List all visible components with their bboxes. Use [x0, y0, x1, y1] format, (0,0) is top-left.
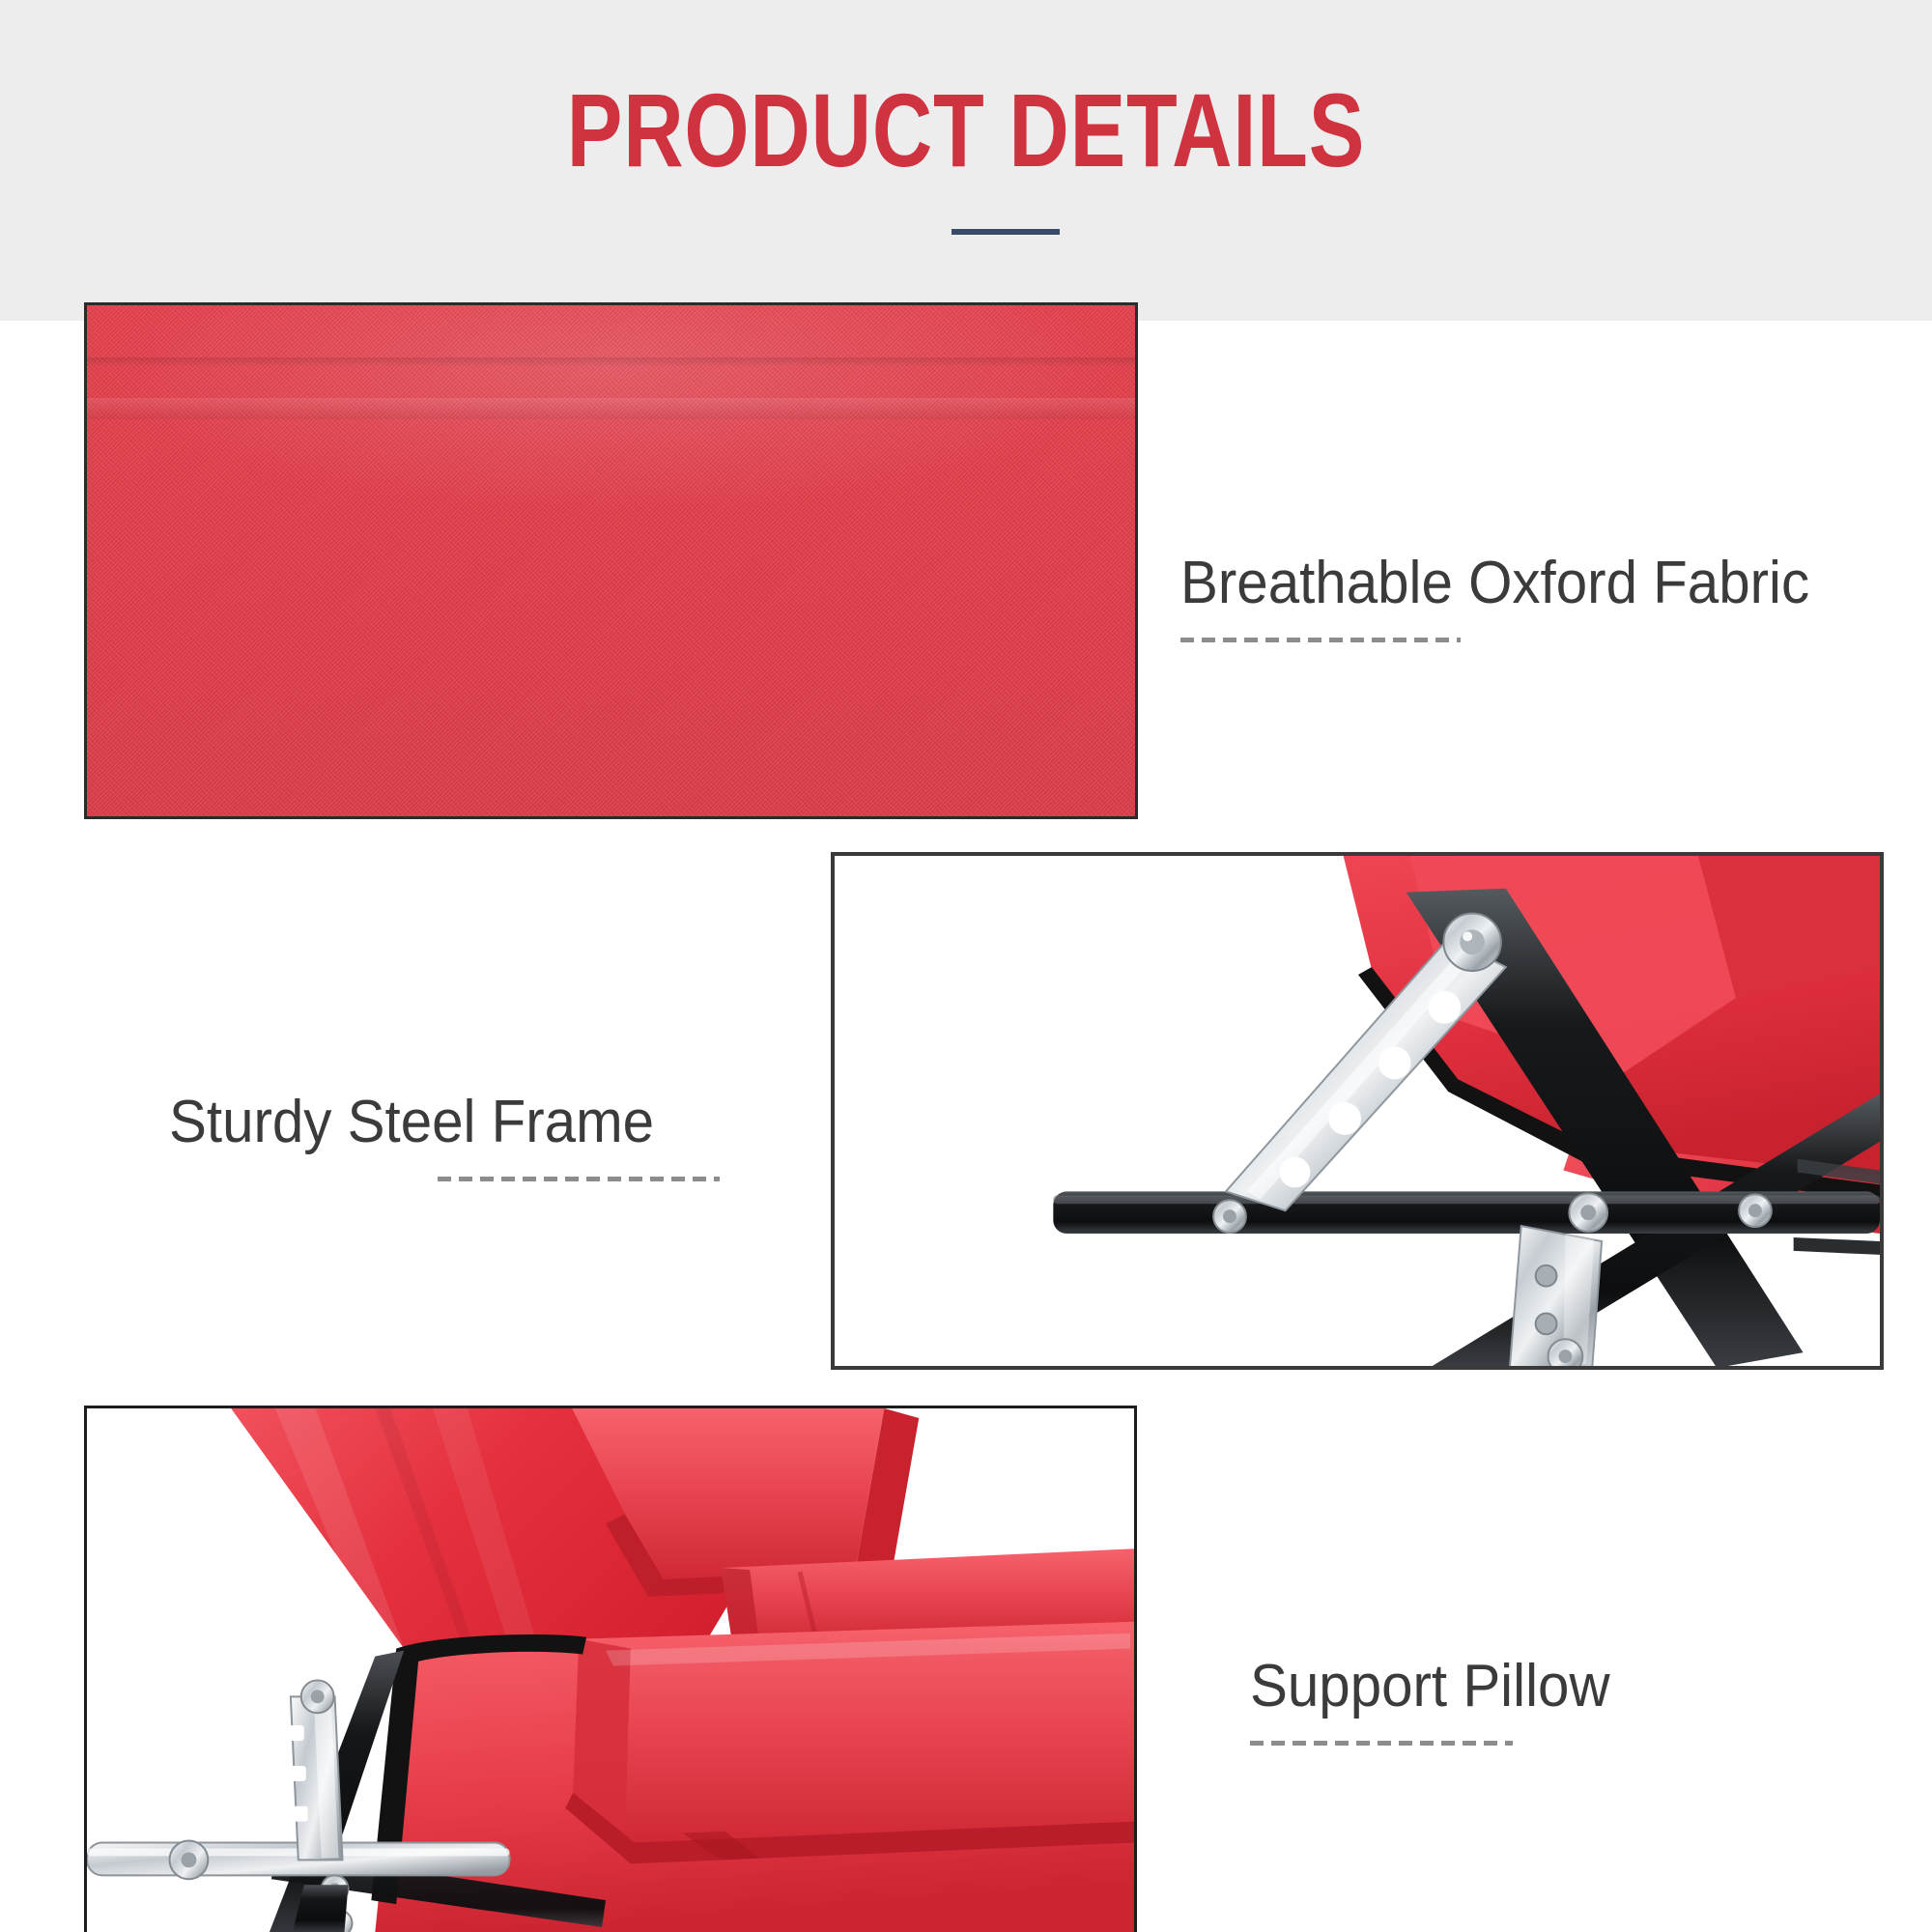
caption-support-pillow: Support Pillow — [1250, 1654, 1633, 1746]
caption-label: Breathable Oxford Fabric — [1180, 551, 1809, 616]
caption-dashed-rule — [438, 1177, 720, 1181]
caption-label: Sturdy Steel Frame — [169, 1090, 687, 1155]
fabric-texture — [87, 305, 1135, 816]
fabric-swatch-image — [84, 302, 1138, 819]
fabric-seam-line — [87, 398, 1135, 419]
caption-sturdy-steel-frame: Sturdy Steel Frame — [169, 1090, 720, 1181]
fabric-fold-line — [87, 357, 1135, 367]
steel-frame-image — [831, 852, 1884, 1370]
page-title: PRODUCT DETAILS — [193, 75, 1739, 185]
caption-breathable-oxford-fabric: Breathable Oxford Fabric — [1180, 551, 1850, 642]
product-details-page: PRODUCT DETAILS Breathable Oxford Fabric — [0, 0, 1932, 1932]
caption-dashed-rule — [1250, 1741, 1513, 1746]
steel-frame-illustration — [835, 856, 1880, 1366]
support-pillow-illustration — [87, 1408, 1134, 1932]
caption-dashed-rule — [1180, 638, 1461, 642]
support-pillow-image — [84, 1406, 1137, 1932]
caption-label: Support Pillow — [1250, 1654, 1610, 1719]
title-underline-accent — [952, 229, 1060, 235]
